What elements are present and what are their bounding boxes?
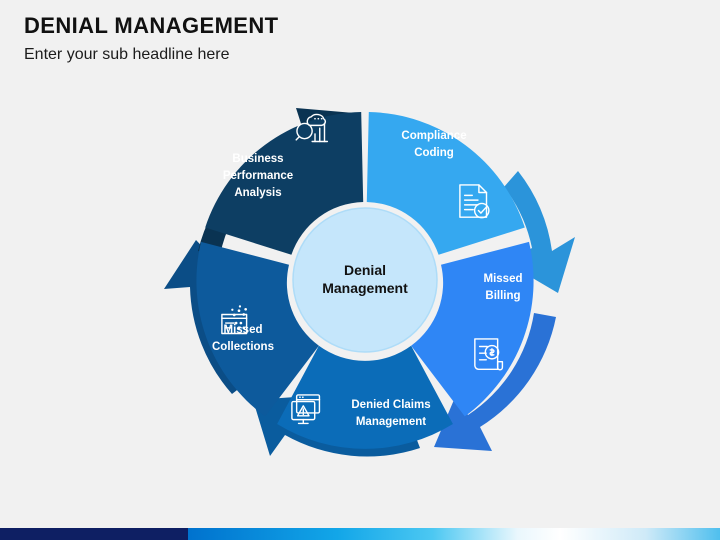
cycle-diagram: Denial Management Compliance Coding Miss…	[120, 55, 610, 495]
label-compliance-coding-line2: Coding	[414, 147, 454, 159]
center-label-line2: Management	[322, 280, 408, 296]
page-title: DENIAL MANAGEMENT	[24, 14, 279, 38]
center-label-line1: Denial	[344, 262, 386, 278]
label-missed-billing-line1: Missed	[484, 273, 523, 285]
label-business-performance-line3: Analysis	[234, 187, 281, 199]
label-missed-collections-line2: Collections	[212, 341, 274, 353]
label-business-performance-line1: Business	[232, 153, 283, 165]
label-business-performance-line2: Performance	[223, 170, 293, 182]
label-compliance-coding-line1: Compliance	[401, 130, 466, 142]
label-denied-claims-line1: Denied Claims	[351, 399, 430, 411]
label-missed-billing-line2: Billing	[485, 290, 520, 302]
slide-canvas: DENIAL MANAGEMENT Enter your sub headlin…	[0, 0, 720, 540]
footer-accent-bar	[0, 528, 720, 540]
footer-dark-block	[0, 528, 188, 540]
cycle-wheel-svg: Denial Management Compliance Coding Miss…	[120, 55, 610, 495]
label-denied-claims-line2: Management	[356, 416, 426, 428]
footer-gradient-block	[188, 528, 720, 540]
